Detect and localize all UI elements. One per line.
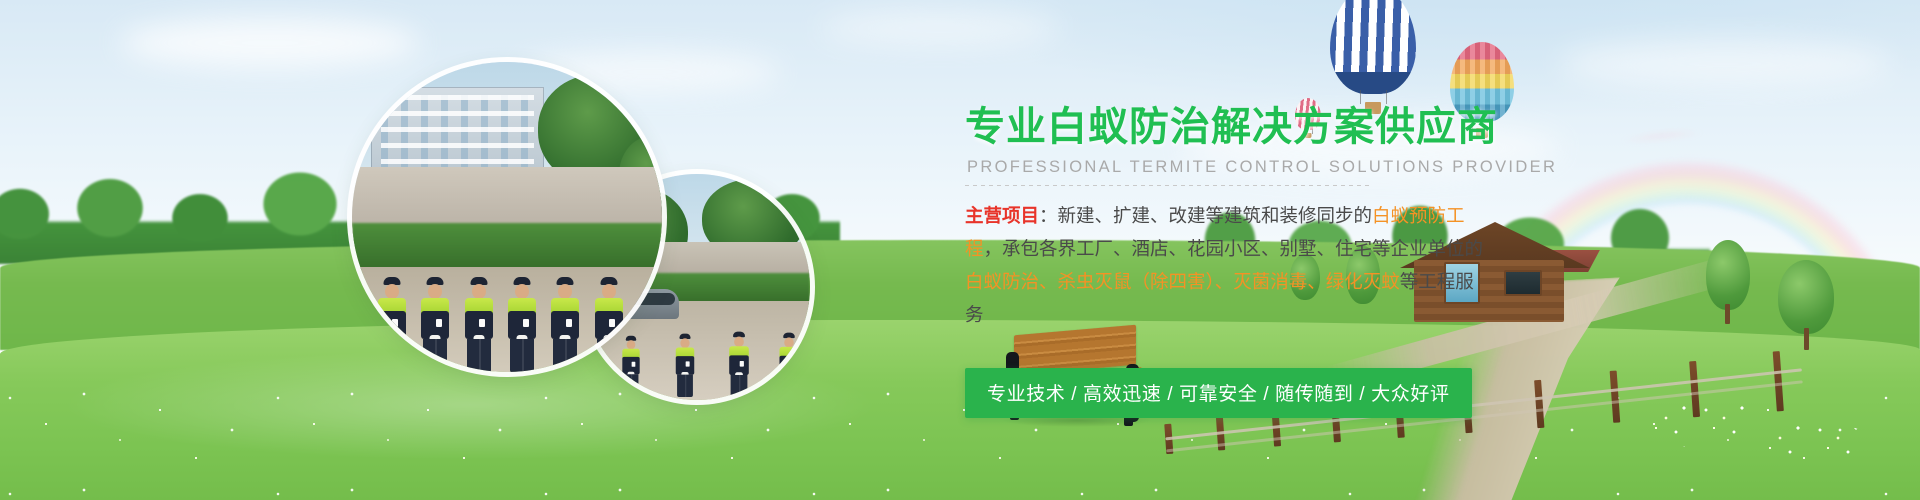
description-highlight-2: 白蚁防治、杀虫灭鼠（除四害）、灭菌消毒、绿化灭蚊 xyxy=(965,271,1400,292)
banner-description: 主营项目：新建、扩建、改建等建筑和装修同步的白蚁预防工程，承包各界工厂、酒店、花… xyxy=(965,199,1485,331)
tree-trunk xyxy=(1804,328,1809,350)
slogan-bar: 专业技术 / 高效迅速 / 可靠安全 / 随传随到 / 大众好评 xyxy=(965,368,1472,418)
description-segment-2: ，承包各界工厂、酒店、花园小区、别墅、住宅等企业单位的 xyxy=(984,238,1484,259)
cloud xyxy=(1560,40,1890,88)
hero-banner: 专业白蚁防治解决方案供应商 PROFESSIONAL TERMITE CONTR… xyxy=(0,0,1920,500)
divider xyxy=(965,185,1369,186)
cloud xyxy=(120,18,420,68)
description-segment-1: 新建、扩建、改建等建筑和装修同步的 xyxy=(1058,205,1373,226)
banner-heading-en: PROFESSIONAL TERMITE CONTROL SOLUTIONS P… xyxy=(967,158,1665,177)
photo-collage xyxy=(352,62,852,402)
description-colon: ： xyxy=(1039,205,1058,226)
banner-content: 专业白蚁防治解决方案供应商 PROFESSIONAL TERMITE CONTR… xyxy=(965,106,1665,418)
description-lead-label: 主营项目 xyxy=(965,205,1039,226)
team-photo-main xyxy=(352,62,662,372)
banner-heading-cn: 专业白蚁防治解决方案供应商 xyxy=(965,106,1665,149)
cloud xyxy=(820,10,1060,46)
flower-patch xyxy=(1754,422,1874,466)
balloon-blue-icon xyxy=(1330,0,1416,94)
